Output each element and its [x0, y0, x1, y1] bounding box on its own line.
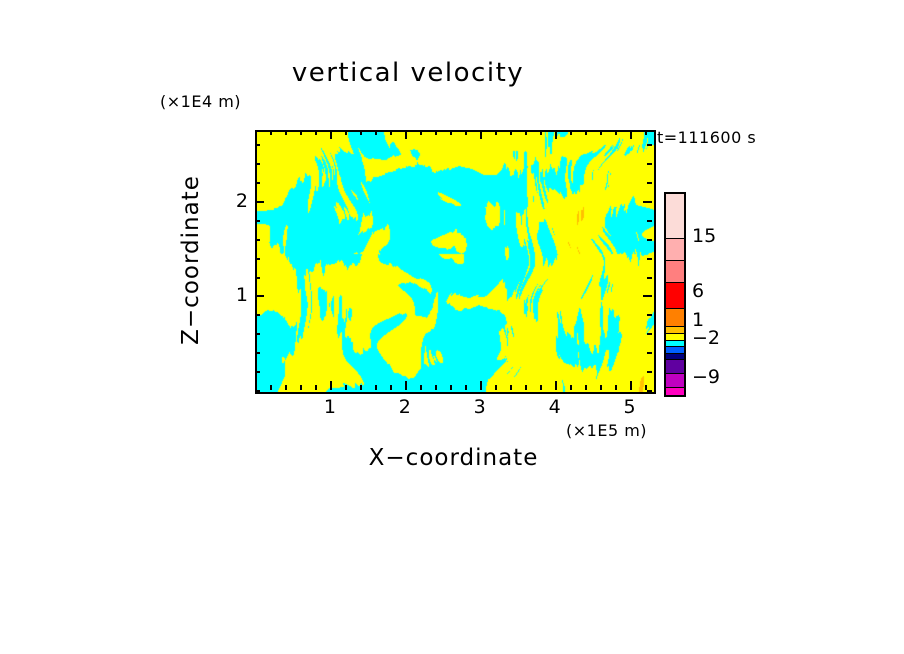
colorbar-band-separator — [664, 353, 686, 354]
x-minor-tick — [270, 385, 272, 390]
x-minor-tick-top — [570, 130, 572, 135]
x-minor-tick-top — [255, 130, 257, 135]
x-axis-unit-label: (×1E5 m) — [566, 421, 647, 440]
x-minor-tick — [600, 385, 602, 390]
velocity-field-heatmap — [257, 132, 654, 392]
x-tick-label: 1 — [324, 396, 336, 418]
x-minor-tick — [570, 385, 572, 390]
x-minor-tick-top — [450, 130, 452, 135]
x-minor-tick — [495, 385, 497, 390]
colorbar-tick-label: 6 — [692, 280, 704, 302]
colorbar-band — [666, 387, 684, 395]
x-minor-tick — [450, 385, 452, 390]
y-minor-tick — [255, 371, 260, 373]
x-minor-tick-top — [420, 130, 422, 135]
colorbar-band — [666, 308, 684, 326]
x-major-tick-top — [330, 130, 332, 139]
y-minor-tick-right — [647, 333, 652, 335]
colorbar-band — [666, 282, 684, 308]
colorbar-band — [666, 346, 684, 353]
y-major-tick-right — [643, 201, 652, 203]
colorbar-band-separator — [664, 373, 686, 374]
colorbar-band — [666, 359, 684, 373]
y-major-tick — [255, 201, 264, 203]
x-minor-tick — [345, 385, 347, 390]
x-minor-tick-top — [585, 130, 587, 135]
colorbar-band — [666, 326, 684, 333]
x-major-tick — [480, 381, 482, 390]
colorbar-band-separator — [664, 333, 686, 334]
x-minor-tick — [435, 385, 437, 390]
x-minor-tick-top — [360, 130, 362, 135]
colorbar-band-separator — [664, 326, 686, 327]
colorbar-band-separator — [664, 387, 686, 388]
y-minor-tick-right — [647, 144, 652, 146]
y-minor-tick-right — [647, 220, 652, 222]
colorbar-band-separator — [664, 238, 686, 239]
x-minor-tick-top — [510, 130, 512, 135]
x-minor-tick — [375, 385, 377, 390]
colorbar-band-separator — [664, 282, 686, 283]
y-minor-tick-right — [647, 239, 652, 241]
y-minor-tick — [255, 314, 260, 316]
x-minor-tick — [510, 385, 512, 390]
colorbar-band — [666, 194, 684, 238]
y-minor-tick-right — [647, 163, 652, 165]
x-minor-tick-top — [345, 130, 347, 135]
y-major-tick-right — [643, 295, 652, 297]
figure-canvas: vertical velocity (×1E4 m) t=111600 s X−… — [0, 0, 904, 654]
x-minor-tick-top — [315, 130, 317, 135]
x-minor-tick-top — [270, 130, 272, 135]
x-minor-tick — [300, 385, 302, 390]
y-minor-tick-right — [647, 258, 652, 260]
x-tick-label: 4 — [549, 396, 561, 418]
colorbar-band-separator — [664, 308, 686, 309]
y-tick-label: 1 — [232, 284, 248, 306]
x-minor-tick — [420, 385, 422, 390]
x-minor-tick — [615, 385, 617, 390]
y-axis-title: Z−coordinate — [178, 175, 204, 345]
colorbar-band-separator — [664, 359, 686, 360]
y-tick-label: 2 — [232, 190, 248, 212]
x-minor-tick — [540, 385, 542, 390]
y-minor-tick-right — [647, 371, 652, 373]
colorbar-tick-label: −9 — [692, 366, 720, 388]
x-minor-tick-top — [435, 130, 437, 135]
colorbar[interactable] — [664, 192, 686, 397]
colorbar-band — [666, 333, 684, 340]
y-minor-tick — [255, 239, 260, 241]
x-minor-tick — [525, 385, 527, 390]
colorbar-band — [666, 238, 684, 260]
x-major-tick-top — [555, 130, 557, 139]
x-major-tick — [405, 381, 407, 390]
x-minor-tick-top — [645, 130, 647, 135]
x-minor-tick-top — [525, 130, 527, 135]
x-minor-tick-top — [390, 130, 392, 135]
x-minor-tick-top — [375, 130, 377, 135]
timestamp-annotation: t=111600 s — [657, 128, 756, 147]
y-minor-tick — [255, 144, 260, 146]
y-minor-tick — [255, 163, 260, 165]
x-minor-tick — [390, 385, 392, 390]
y-minor-tick — [255, 352, 260, 354]
y-minor-tick-right — [647, 314, 652, 316]
y-minor-tick — [255, 258, 260, 260]
y-major-tick — [255, 295, 264, 297]
y-axis-unit-label: (×1E4 m) — [160, 92, 241, 111]
plot-area[interactable] — [255, 130, 656, 394]
x-major-tick-top — [480, 130, 482, 139]
y-minor-tick-right — [647, 390, 652, 392]
colorbar-tick-label: 15 — [692, 225, 716, 247]
x-minor-tick-top — [540, 130, 542, 135]
x-minor-tick-top — [495, 130, 497, 135]
x-major-tick — [630, 381, 632, 390]
x-axis-title: X−coordinate — [255, 445, 652, 471]
colorbar-band-separator — [664, 260, 686, 261]
colorbar-band — [666, 373, 684, 387]
y-minor-tick-right — [647, 277, 652, 279]
page-title: vertical velocity — [0, 58, 860, 88]
x-minor-tick — [315, 385, 317, 390]
x-tick-label: 2 — [399, 396, 411, 418]
y-minor-tick — [255, 220, 260, 222]
y-minor-tick — [255, 277, 260, 279]
x-major-tick — [555, 381, 557, 390]
x-tick-label: 3 — [474, 396, 486, 418]
y-minor-tick — [255, 182, 260, 184]
x-minor-tick-top — [300, 130, 302, 135]
x-minor-tick-top — [600, 130, 602, 135]
colorbar-band — [666, 260, 684, 282]
x-minor-tick-top — [285, 130, 287, 135]
y-minor-tick-right — [647, 182, 652, 184]
colorbar-band-separator — [664, 340, 686, 341]
colorbar-band-separator — [664, 346, 686, 347]
x-minor-tick — [465, 385, 467, 390]
y-minor-tick — [255, 333, 260, 335]
x-minor-tick — [285, 385, 287, 390]
x-minor-tick-top — [615, 130, 617, 135]
y-minor-tick — [255, 390, 260, 392]
x-major-tick — [330, 381, 332, 390]
x-major-tick-top — [630, 130, 632, 139]
x-major-tick-top — [405, 130, 407, 139]
y-minor-tick-right — [647, 352, 652, 354]
x-minor-tick-top — [465, 130, 467, 135]
x-minor-tick — [360, 385, 362, 390]
x-minor-tick — [585, 385, 587, 390]
colorbar-tick-label: −2 — [692, 327, 720, 349]
x-tick-label: 5 — [623, 396, 635, 418]
